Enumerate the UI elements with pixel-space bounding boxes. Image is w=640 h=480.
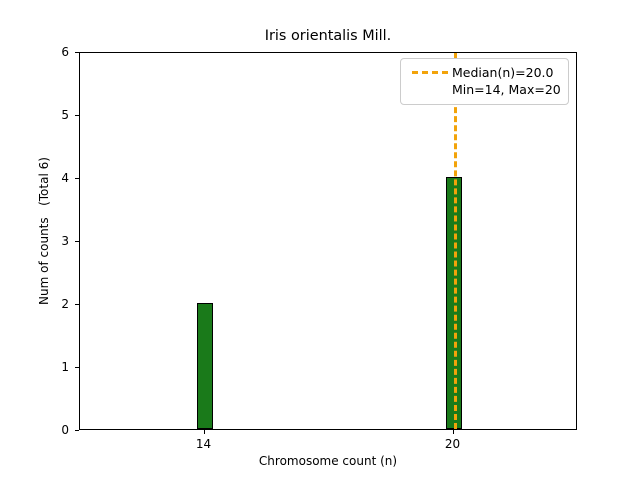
legend-entry-minmax: Min=14, Max=20 xyxy=(408,81,561,98)
y-tick-2 xyxy=(75,304,79,305)
x-tick-14 xyxy=(204,430,205,434)
y-tick-3 xyxy=(75,241,79,242)
median-annotation-layer xyxy=(80,53,576,429)
y-tick-6 xyxy=(75,52,79,53)
median-line xyxy=(454,53,457,429)
legend-minmax-label: Min=14, Max=20 xyxy=(408,81,561,98)
y-axis-label: Num of counts (Total 6) xyxy=(37,42,51,420)
legend-entry-label: Median(n)=20.0 xyxy=(452,64,553,81)
legend-handle-cell xyxy=(408,71,452,74)
y-tick-1 xyxy=(75,367,79,368)
x-axis-label: Chromosome count (n) xyxy=(79,454,577,468)
chart-legend: Median(n)=20.0 Min=14, Max=20 xyxy=(400,58,569,105)
matplotlib-figure: Iris orientalis Mill. 0123456 1420 Chrom… xyxy=(0,0,640,480)
chart-title: Iris orientalis Mill. xyxy=(79,28,577,45)
x-tick-label-20: 20 xyxy=(423,438,483,450)
x-tick-label-14: 14 xyxy=(174,438,234,450)
legend-entry-median: Median(n)=20.0 xyxy=(408,64,561,81)
y-tick-4 xyxy=(75,178,79,179)
plot-area xyxy=(79,52,577,430)
y-tick-label-0: 0 xyxy=(29,424,69,436)
y-tick-0 xyxy=(75,430,79,431)
median-dashed-line-icon xyxy=(412,71,448,74)
y-tick-5 xyxy=(75,115,79,116)
x-tick-20 xyxy=(453,430,454,434)
